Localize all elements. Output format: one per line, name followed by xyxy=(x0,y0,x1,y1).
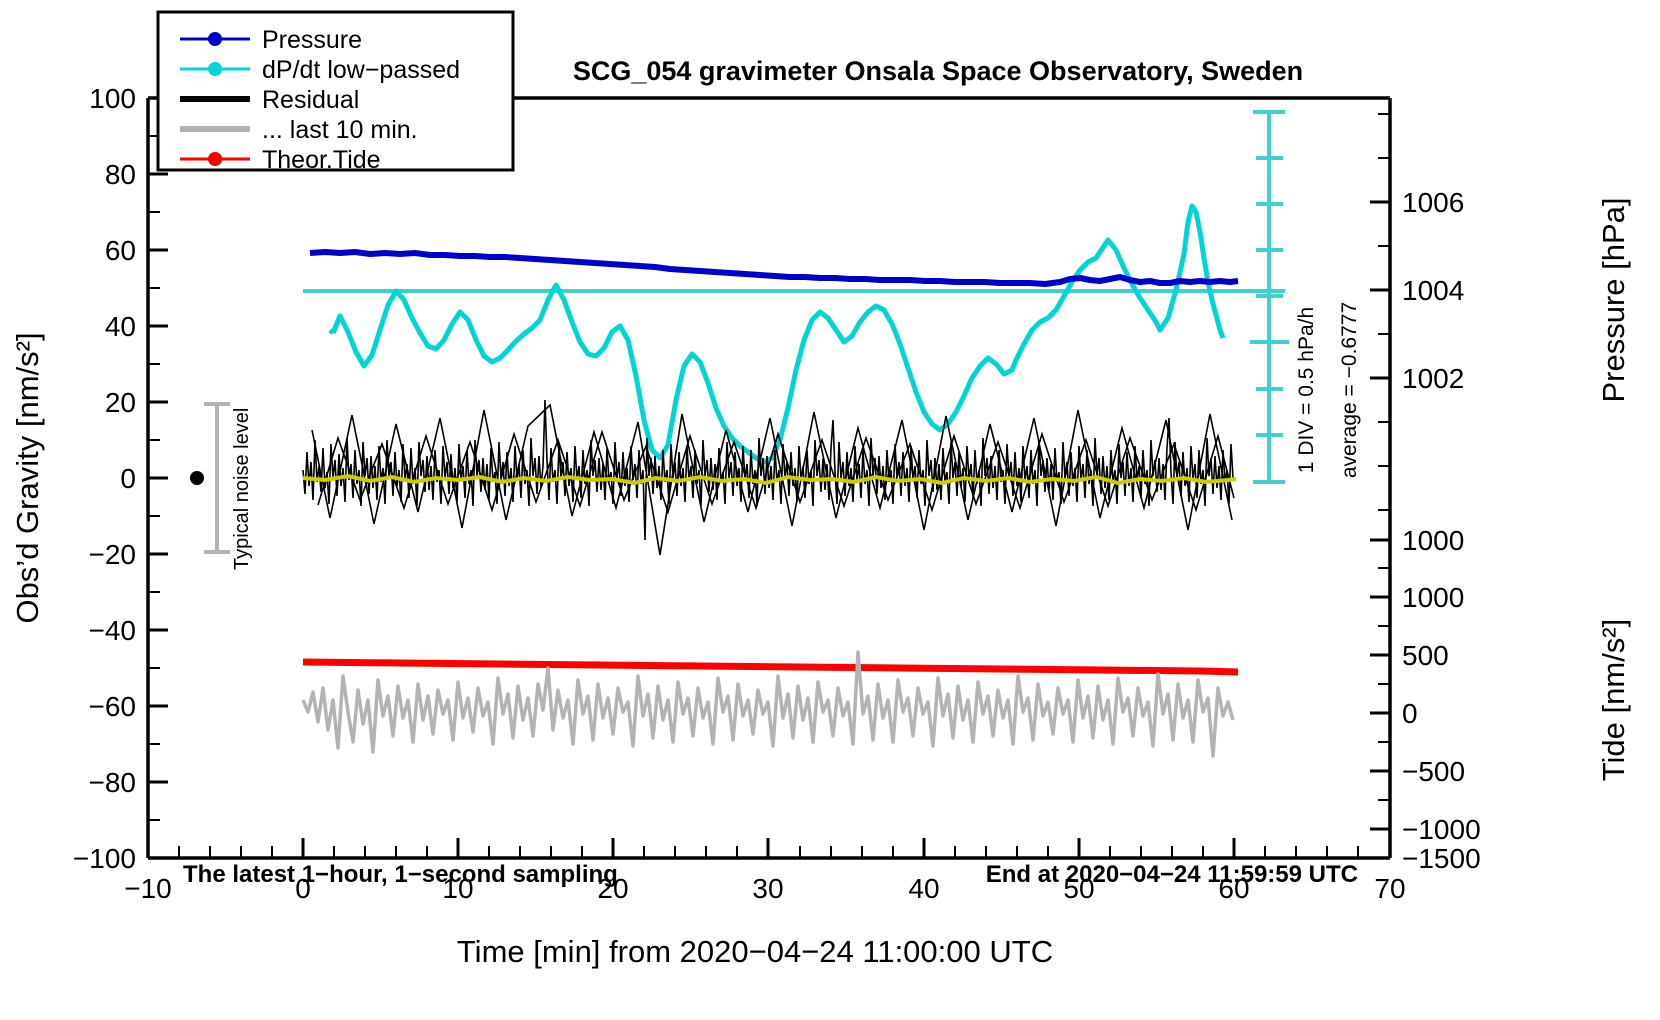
right-tide-tick-label: −1500 xyxy=(1402,843,1481,874)
right-tide-tick-label: −1000 xyxy=(1402,814,1481,845)
right-tide-tick-label: 0 xyxy=(1402,698,1418,729)
series-dpdt-leadin xyxy=(330,330,333,333)
bottom-tick-label: 40 xyxy=(908,873,939,904)
right-tide-tick-label: 500 xyxy=(1402,640,1449,671)
left-tick-label: −20 xyxy=(89,539,137,570)
legend-label: dP/dt low−passed xyxy=(262,56,460,84)
gravimeter-plot-figure: 100 80 60 40 20 0 −20 −40 −60 −80 −100 O… xyxy=(0,0,1660,1020)
page-title: SCG_054 gravimeter Onsala Space Observat… xyxy=(573,56,1303,86)
right-tide-tick-label: −500 xyxy=(1402,756,1465,787)
right-pressure-axis-label: Pressure [hPa] xyxy=(1596,197,1631,402)
left-tick-label: −100 xyxy=(73,843,136,874)
legend-label: ... last 10 min. xyxy=(262,116,418,144)
legend-label: Theor.Tide xyxy=(262,146,381,174)
bottom-tick-label: 30 xyxy=(752,873,783,904)
dpdt-average-label: average = −0.6777 xyxy=(1338,302,1361,478)
right-pressure-tick-label: 1006 xyxy=(1402,187,1464,218)
legend-label: Residual xyxy=(262,86,359,114)
left-tick-label: 0 xyxy=(120,463,136,494)
right-pressure-tick-label: 1000 xyxy=(1402,525,1464,556)
right-pressure-tick-label: 1002 xyxy=(1402,363,1464,394)
footer-left-note: The latest 1−hour, 1−second sampling xyxy=(183,861,618,888)
legend-label: Pressure xyxy=(262,26,362,54)
bottom-tick-label: 70 xyxy=(1374,873,1405,904)
right-tide-tick-label: 1000 xyxy=(1402,582,1464,613)
typical-noise-level-label: Typical noise level xyxy=(231,408,253,570)
bottom-tick-label: −10 xyxy=(124,873,172,904)
legend: Pressure dP/dt low−passed Residual ... l… xyxy=(158,12,513,174)
noise-center-dot xyxy=(190,471,204,485)
left-tick-label: −80 xyxy=(89,767,137,798)
dpdt-div-scale-label: 1 DIV = 0.5 hPa/h xyxy=(1295,307,1318,473)
left-tick-label: −40 xyxy=(89,615,137,646)
left-tick-label: −60 xyxy=(89,691,137,722)
legend-marker-icon xyxy=(208,62,222,76)
legend-marker-icon xyxy=(208,32,222,46)
left-tick-label: 100 xyxy=(89,83,136,114)
footer-right-note: End at 2020−04−24 11:59:59 UTC xyxy=(986,861,1358,888)
right-pressure-tick-label: 1004 xyxy=(1402,275,1464,306)
left-tick-label: 80 xyxy=(105,159,136,190)
series-dpdt-exit xyxy=(1220,330,1223,338)
right-tide-axis-label: Tide [nm/s²] xyxy=(1596,619,1631,782)
left-tick-label: 60 xyxy=(105,235,136,266)
left-tick-label: 40 xyxy=(105,311,136,342)
left-axis-label: Obs’d Gravity [nm/s²] xyxy=(10,332,45,623)
legend-marker-icon xyxy=(208,152,222,166)
left-tick-label: 20 xyxy=(105,387,136,418)
bottom-axis-label: Time [min] from 2020−04−24 11:00:00 UTC xyxy=(457,934,1053,969)
